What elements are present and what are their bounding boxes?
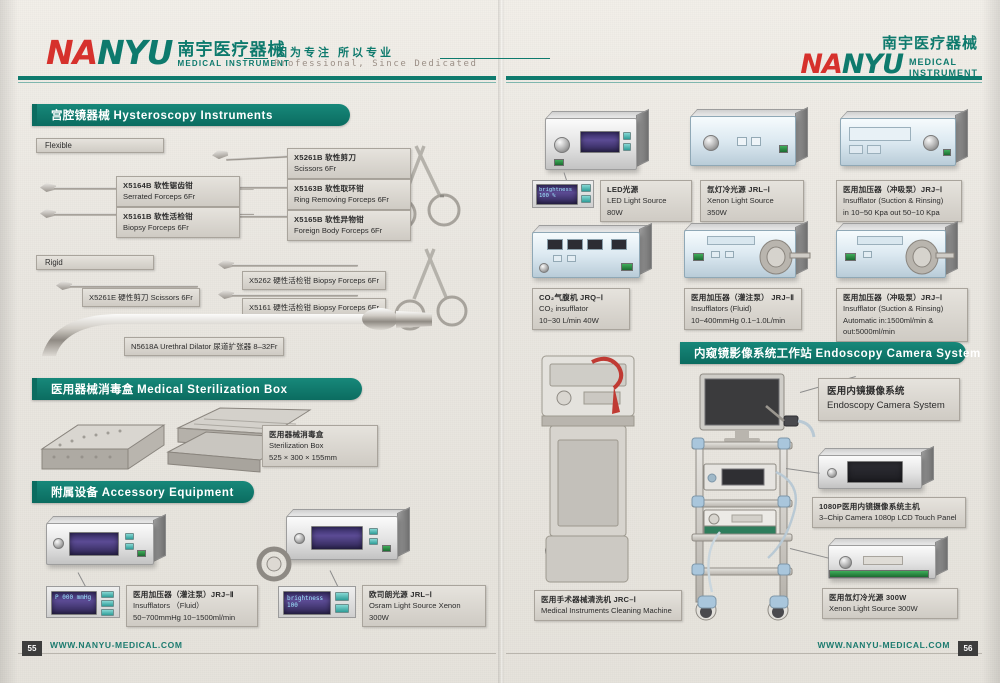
brand-right-line1: MEDICAL xyxy=(909,57,978,67)
device-button[interactable] xyxy=(867,145,881,154)
device-xenon-light-source xyxy=(690,116,796,166)
caption-en: Xenon Light Source xyxy=(707,195,797,206)
caption-cn: 1080P医用内镜摄像系统主机 xyxy=(819,501,959,512)
section-header-sterilization: 医用器械消毒盒 Medical Sterilization Box xyxy=(32,378,362,400)
caption-cn: 医用加压器（灌注泵） JRJ–Ⅱ xyxy=(691,292,795,303)
caption-en: Scissors 6Fr xyxy=(294,163,404,174)
masthead: NANYU 南宇医疗器械 MEDICAL INSTRUMENT 因为专注 所以专… xyxy=(0,0,1000,84)
section-title-en: Hysteroscopy Instruments xyxy=(114,110,273,122)
caption-osram-light-source: 欧司朗光源 JRL–Ⅰ Osram Light Source Xenon 300… xyxy=(362,585,486,627)
caption-cn: X5164B 软性锯齿钳 xyxy=(123,180,233,191)
device-display xyxy=(611,239,627,250)
device-osram-light-source xyxy=(286,516,398,560)
catalog-page: NANYU 南宇医疗器械 MEDICAL INSTRUMENT 因为专注 所以专… xyxy=(0,0,1000,683)
page-number-right: 56 xyxy=(958,641,978,656)
device-front-panel xyxy=(690,116,796,166)
peristaltic-pump-head-illustration xyxy=(756,238,812,276)
device-knob[interactable] xyxy=(554,137,570,153)
device-xenon-300w xyxy=(828,545,936,579)
section-title-cn: 宫腔镜器械 xyxy=(51,110,110,122)
device-insufflator-fluid xyxy=(46,523,154,565)
caption-en: Serrated Forceps 6Fr xyxy=(123,191,233,202)
caption-en: Endoscopy Camera System xyxy=(827,399,951,413)
caption-spec: in 10~50 Kpa out 50~10 Kpa xyxy=(843,207,955,218)
panel-button[interactable] xyxy=(101,591,114,598)
caption-xenon-300w: 医用氙灯冷光源 300W Xenon Light Source 300W xyxy=(822,588,958,619)
caption-en: CO₂ insufflator xyxy=(539,303,623,314)
caption-cn: 医用氙灯冷光源 300W xyxy=(829,592,951,603)
caption-cn: LED光源 xyxy=(607,184,685,195)
device-display xyxy=(69,532,119,556)
light-cable-connector-illustration xyxy=(256,546,296,582)
caption-en: Insufflators （Fluid） xyxy=(133,600,251,611)
caption-insufflator-suction: 医用加压器（冲吸泵）JRJ–Ⅰ Insufflator (Suction & R… xyxy=(836,180,962,222)
page-edge-left xyxy=(0,0,18,683)
caption-en: Foreign Body Forceps 6Fr xyxy=(294,225,404,236)
brand-wordmark: NANYU xyxy=(46,36,172,69)
panel-button[interactable] xyxy=(581,184,591,192)
device-front-panel xyxy=(286,516,398,560)
caption-en: 3–Chip Camera 1080p LCD Touch Panel xyxy=(819,512,959,523)
caption-insufflator-fluid-right: 医用加压器（灌注泵） JRJ–Ⅱ Insufflators (Fluid) 10… xyxy=(684,288,802,330)
device-port[interactable] xyxy=(839,556,852,569)
device-front-panel xyxy=(828,545,936,579)
section-title-en: Endoscopy Camera System xyxy=(816,348,981,360)
caption-spec: 80W xyxy=(607,207,685,218)
caption-3chip-camera: 1080P医用内镜摄像系统主机 3–Chip Camera 1080p LCD … xyxy=(812,497,966,528)
caption-en: LED Light Source xyxy=(607,195,685,206)
header-rule-right-thin xyxy=(506,82,982,83)
panel-button[interactable] xyxy=(101,600,114,607)
device-power-button[interactable] xyxy=(382,545,391,552)
device-button[interactable] xyxy=(849,145,863,154)
header-rule-left-thin xyxy=(18,82,496,83)
device-display xyxy=(857,236,903,245)
panel-thumbnail-insufflator: P 000 mmHg xyxy=(46,586,120,618)
section-header-accessory: 附属设备 Accessory Equipment xyxy=(32,481,254,503)
footer-url-right[interactable]: WWW.NANYU-MEDICAL.COM xyxy=(817,640,950,650)
device-display xyxy=(863,556,903,565)
device-power-button[interactable] xyxy=(554,159,564,166)
device-power-button[interactable] xyxy=(621,263,633,271)
panel-display: brightness 100 % xyxy=(536,184,578,205)
device-side-face xyxy=(397,507,410,557)
panel-button[interactable] xyxy=(101,609,114,616)
device-knob[interactable] xyxy=(53,538,64,549)
caption-en: Biopsy Forceps 6Fr xyxy=(123,222,233,233)
page-footer: 55 WWW.NANYU-MEDICAL.COM WWW.NANYU-MEDIC… xyxy=(0,639,1000,683)
section-title-en: Medical Sterilization Box xyxy=(137,384,287,396)
caption-spec: 50~700mmHg 10~1500ml/min xyxy=(133,612,251,623)
caption-x5165b: X5165B 软性异物钳 Foreign Body Forceps 6Fr xyxy=(287,210,411,241)
caption-cn: X5161B 软性活检钳 xyxy=(123,211,233,222)
caption-sterilization-box: 医用器械消毒盒 Sterilization Box 525 × 300 × 15… xyxy=(262,425,378,467)
device-display xyxy=(567,239,583,250)
group-tag-rigid: Rigid xyxy=(36,255,154,270)
instrument-shaft xyxy=(232,264,358,267)
device-side-face xyxy=(955,109,968,163)
device-power-button[interactable] xyxy=(137,550,146,557)
caption-spec: 300W xyxy=(369,612,479,623)
cleaning-machine-illustration xyxy=(528,352,658,588)
caption-cn: X5261B 软性剪刀 xyxy=(294,152,404,163)
device-led-light-source xyxy=(545,118,637,170)
device-side-face xyxy=(153,514,166,562)
device-side-face xyxy=(636,109,649,167)
device-knob[interactable] xyxy=(923,135,939,151)
caption-en: Insufflator (Suction & Rinsing) xyxy=(843,303,961,314)
device-power-button[interactable] xyxy=(943,149,951,156)
caption-cn: 医用加压器（冲吸泵）JRJ–Ⅰ xyxy=(843,292,961,303)
device-accent-strip xyxy=(829,570,929,578)
caption-x5261b: X5261B 软性剪刀 Scissors 6Fr xyxy=(287,148,411,179)
device-button[interactable] xyxy=(725,251,734,258)
device-display xyxy=(847,461,903,483)
caption-cn: X5163B 软性取环钳 xyxy=(294,183,404,194)
device-display xyxy=(587,239,603,250)
device-power-button[interactable] xyxy=(845,253,856,261)
device-side-face xyxy=(639,223,652,275)
caption-cleaning-machine: 医用手术器械清洗机 JRC–Ⅰ Medical Instruments Clea… xyxy=(534,590,682,621)
section-header-camera-system: 内窥镜影像系统工作站 Endoscopy Camera System xyxy=(680,342,966,364)
device-insufflator-suction-rinsing xyxy=(840,118,956,166)
device-side-face xyxy=(795,107,808,163)
panel-button[interactable] xyxy=(581,195,591,203)
section-title-en: Accessory Equipment xyxy=(102,487,234,499)
device-port[interactable] xyxy=(539,263,549,273)
panel-thumbnail-led: brightness 100 % xyxy=(532,180,594,208)
device-button[interactable] xyxy=(711,251,720,258)
caption-spec: Automatic in:1500ml/min & out:5000ml/min xyxy=(843,315,961,338)
group-tag-flexible: Flexible xyxy=(36,138,164,153)
caption-x5163b: X5163B 软性取环钳 Ring Removing Forceps 6Fr xyxy=(287,179,411,210)
device-knob[interactable] xyxy=(294,533,305,544)
slogan-cn: 因为专注 所以专业 xyxy=(276,44,394,60)
device-front-panel xyxy=(840,118,956,166)
caption-x5161b: X5161B 软性活检钳 Biopsy Forceps 6Fr xyxy=(116,207,240,238)
device-port[interactable] xyxy=(703,135,719,151)
caption-spec: 10~30 L/min 40W xyxy=(539,315,623,326)
caption-cn: 氙灯冷光源 JRL–Ⅰ xyxy=(707,184,797,195)
caption-en: Sterilization Box xyxy=(269,440,371,451)
device-display xyxy=(311,526,363,550)
device-co2-insufflator xyxy=(532,232,640,278)
brand-wordmark-right: NANYU xyxy=(800,51,903,78)
section-title-cn: 附属设备 xyxy=(51,487,98,499)
panel-button[interactable] xyxy=(335,604,349,613)
slogan-dash-left xyxy=(244,58,268,59)
device-side-face xyxy=(921,446,934,486)
header-rule-left xyxy=(18,76,496,80)
caption-x5262: X5262 硬性活检钳 Biopsy Forceps 6Fr xyxy=(242,271,386,290)
caption-insufflator-fluid: 医用加压器（灌注泵）JRJ–Ⅱ Insufflators （Fluid） 50~… xyxy=(126,585,258,627)
panel-display-text: brightness 100 xyxy=(284,592,330,612)
device-button[interactable] xyxy=(125,533,134,540)
caption-cn: X5165B 软性异物钳 xyxy=(294,214,404,225)
section-title-cn: 内窥镜影像系统工作站 xyxy=(694,348,812,360)
caption-spec: 10~400mmHg 0.1~1.0L/min xyxy=(691,315,795,326)
caption-cn: CO₂气腹机 JRQ–Ⅰ xyxy=(539,292,623,303)
caption-cn: 欧司朗光源 JRL–Ⅰ xyxy=(369,589,479,600)
panel-display-text: brightness 100 % xyxy=(537,185,577,201)
device-side-face xyxy=(935,536,948,576)
device-front-panel xyxy=(818,455,922,489)
device-front-panel xyxy=(532,232,640,278)
caption-spec: 350W xyxy=(707,207,797,218)
brand-logo-right: 南宇医疗器械 NANYU MEDICAL INSTRUMENT xyxy=(800,32,978,78)
caption-en: Xenon Light Source 300W xyxy=(829,603,951,614)
caption-cn: 医用加压器（冲吸泵）JRJ–Ⅰ xyxy=(843,184,955,195)
footer-url-left[interactable]: WWW.NANYU-MEDICAL.COM xyxy=(50,640,183,650)
device-knob[interactable] xyxy=(827,468,837,478)
brand-logo-left: NANYU 南宇医疗器械 MEDICAL INSTRUMENT xyxy=(46,36,290,69)
device-button[interactable] xyxy=(125,543,134,550)
caption-en: Insufflators (Fluid) xyxy=(691,303,795,314)
panel-display: brightness 100 xyxy=(283,591,331,615)
device-button[interactable] xyxy=(369,538,378,545)
device-button[interactable] xyxy=(623,132,631,140)
caption-cn: 医用手术器械清洗机 JRC–Ⅰ xyxy=(541,594,675,605)
device-button[interactable] xyxy=(863,251,872,258)
caption-cn: 医用内镜摄像系统 xyxy=(827,385,951,399)
device-front-panel xyxy=(46,523,154,565)
caption-en: Ring Removing Forceps 6Fr xyxy=(294,194,404,205)
page-edge-right xyxy=(982,0,1000,683)
brand-name-cn: 南宇医疗器械 xyxy=(177,41,290,59)
panel-thumbnail-light-source: brightness 100 xyxy=(278,586,356,618)
caption-xenon-light-source: 氙灯冷光源 JRL–Ⅰ Xenon Light Source 350W xyxy=(700,180,804,222)
page-number-left: 55 xyxy=(22,641,42,656)
caption-en: Osram Light Source Xenon xyxy=(369,600,479,611)
pump-head-illustration xyxy=(902,238,958,276)
caption-x5164b: X5164B 软性锯齿钳 Serrated Forceps 6Fr xyxy=(116,176,240,207)
device-power-button[interactable] xyxy=(779,145,788,153)
footer-rule-left xyxy=(18,653,496,654)
caption-co2-insufflator: CO₂气腹机 JRQ–Ⅰ CO₂ insufflator 10~30 L/min… xyxy=(532,288,630,330)
device-display xyxy=(580,131,620,153)
device-display xyxy=(849,127,911,141)
caption-urethral-dilator: N5618A Urethral Dilator 尿道扩张器 8–32Fr xyxy=(124,337,284,356)
device-front-panel xyxy=(545,118,637,170)
footer-rule-right xyxy=(506,653,982,654)
brand-right-line2: INSTRUMENT xyxy=(909,68,978,78)
device-display xyxy=(707,236,755,245)
caption-led-light-source: LED光源 LED Light Source 80W xyxy=(600,180,692,222)
device-button[interactable] xyxy=(623,143,631,151)
caption-size: 525 × 300 × 155mm xyxy=(269,452,371,463)
device-display xyxy=(547,239,563,250)
device-3chip-camera xyxy=(818,455,922,489)
device-button[interactable] xyxy=(369,528,378,535)
device-button[interactable] xyxy=(751,137,761,146)
caption-en: Medical Instruments Cleaning Machine xyxy=(541,605,675,616)
device-power-button[interactable] xyxy=(693,253,704,261)
slogan-en: Professional, Since Dedicated xyxy=(274,59,478,69)
caption-cn: 医用器械消毒盒 xyxy=(269,429,371,440)
caption-en: Insufflator (Suction & Rinsing) xyxy=(843,195,955,206)
panel-display: P 000 mmHg xyxy=(51,591,97,615)
panel-display-text: P 000 mmHg xyxy=(52,592,96,603)
sterilization-box-closed-illustration xyxy=(38,405,168,475)
section-title-cn: 医用器械消毒盒 xyxy=(51,384,134,396)
instrument-shaft xyxy=(232,294,358,297)
panel-button[interactable] xyxy=(335,592,349,601)
device-button[interactable] xyxy=(553,255,562,262)
caption-cn: 医用加压器（灌注泵）JRJ–Ⅱ xyxy=(133,589,251,600)
device-button[interactable] xyxy=(567,255,576,262)
caption-camera-system: 医用内镜摄像系统 Endoscopy Camera System xyxy=(818,378,960,421)
device-button[interactable] xyxy=(737,137,747,146)
caption-insufflator-automatic: 医用加压器（冲吸泵）JRJ–Ⅰ Insufflator (Suction & R… xyxy=(836,288,968,342)
section-header-hysteroscopy: 宫腔镜器械 Hysteroscopy Instruments xyxy=(32,104,350,126)
